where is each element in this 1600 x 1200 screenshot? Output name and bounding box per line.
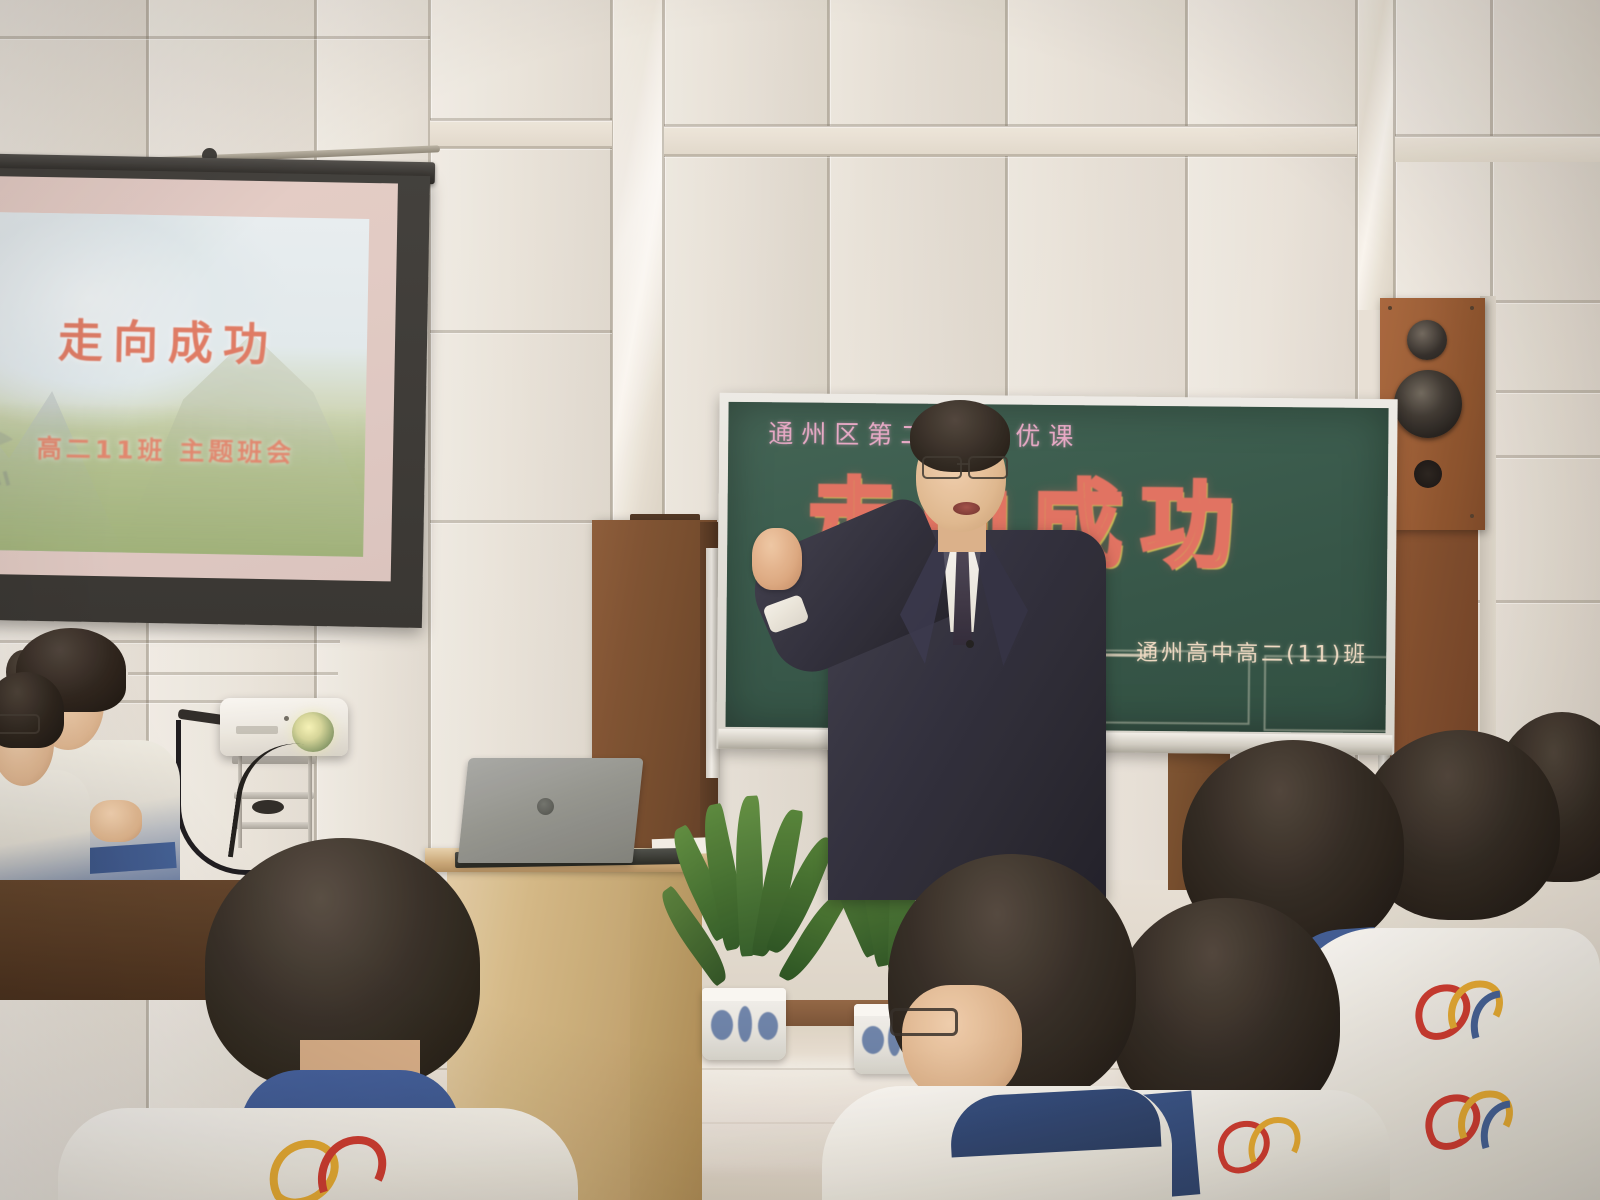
eyeglasses-icon bbox=[922, 456, 962, 479]
uniform-ring-graphic bbox=[1406, 968, 1526, 1054]
student-uniform-jacket bbox=[58, 1108, 578, 1200]
uniform-ring-graphic bbox=[1210, 1106, 1320, 1186]
classroom-photo: 走向成功 高二11班 主题班会 通州区第二届 评优课 走向成功 通州高中高二(1… bbox=[0, 0, 1600, 1200]
eyeglasses-icon bbox=[968, 456, 1008, 479]
foreground-students bbox=[0, 700, 1600, 1200]
clip-microphone-icon bbox=[966, 640, 974, 648]
uniform-ring-graphic bbox=[1416, 1078, 1536, 1164]
teacher-mouth bbox=[953, 502, 980, 515]
eyeglasses-bridge-icon bbox=[957, 463, 970, 465]
uniform-ring-graphic bbox=[258, 1126, 418, 1200]
eyeglasses-icon bbox=[890, 1008, 958, 1036]
teacher-clenched-fist bbox=[752, 528, 802, 590]
